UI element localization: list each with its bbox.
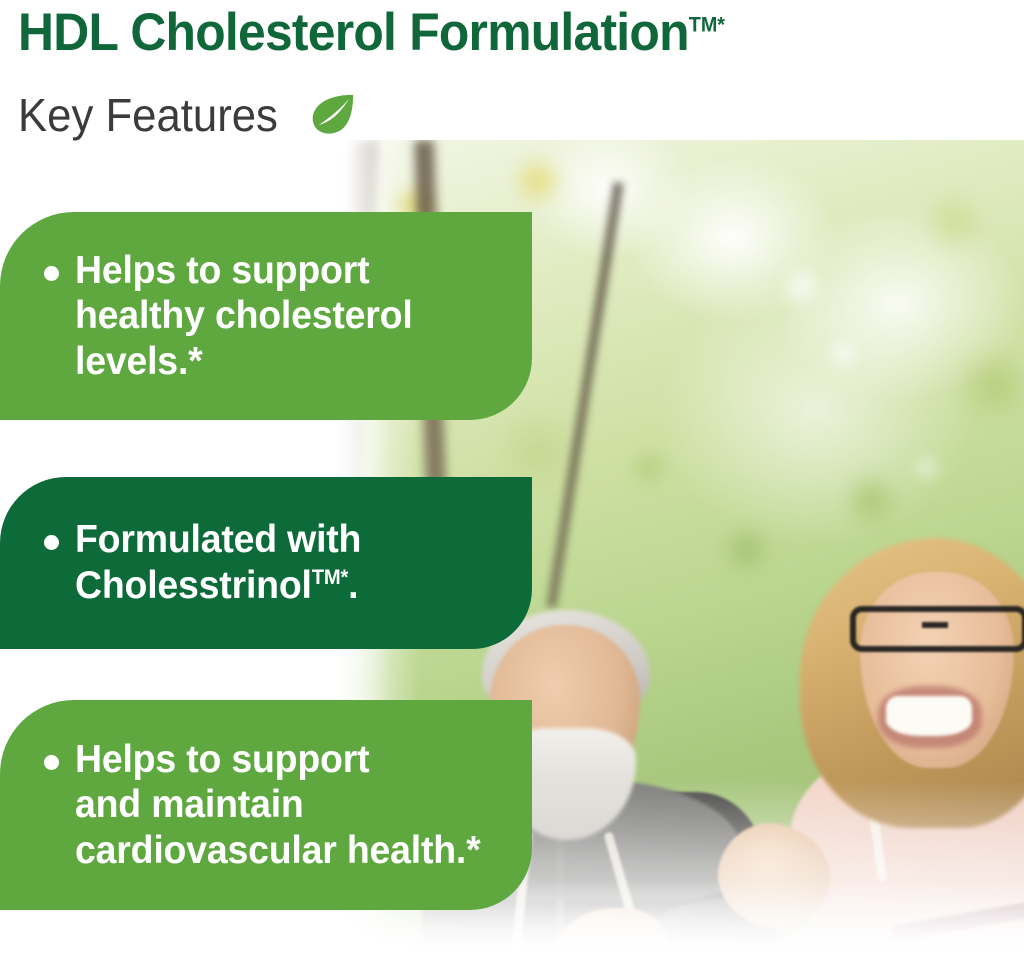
feature-box-1: Helps to support healthy cholesterol lev…: [0, 212, 532, 420]
key-features-heading-row: Key Features: [18, 92, 356, 138]
woman-glasses-bridge: [922, 622, 948, 628]
feature-bullet-row-1: Helps to support healthy cholesterol lev…: [0, 248, 427, 385]
page-title-trademark: TM*: [689, 13, 725, 36]
bullet-icon: [44, 755, 59, 770]
feature-text-2-trademark: TM*: [312, 566, 348, 589]
key-features-label: Key Features: [18, 92, 278, 138]
bullet-icon: [44, 535, 59, 550]
page-title-text: HDL Cholesterol Formulation: [18, 3, 689, 62]
leaf-icon: [310, 92, 356, 138]
page-title: HDL Cholesterol FormulationTM*: [18, 6, 725, 59]
feature-text-1: Helps to support healthy cholesterol lev…: [75, 248, 413, 385]
bullet-icon: [44, 266, 59, 281]
woman-teeth: [886, 696, 972, 736]
feature-bullet-row-2: Formulated with CholesstrinolTM*.: [0, 517, 373, 608]
feature-bullet-row-3: Helps to support and maintain cardiovasc…: [0, 737, 497, 874]
feature-box-3: Helps to support and maintain cardiovasc…: [0, 700, 532, 910]
feature-box-2: Formulated with CholesstrinolTM*.: [0, 477, 532, 649]
woman-glasses: [850, 606, 1024, 652]
feature-text-2: Formulated with CholesstrinolTM*.: [75, 517, 361, 608]
feature-text-2-main: Formulated with Cholesstrinol: [75, 518, 361, 607]
feature-text-2-period: .: [348, 564, 358, 607]
feature-text-3: Helps to support and maintain cardiovasc…: [75, 737, 481, 874]
product-feature-banner: HDL Cholesterol FormulationTM* Key Featu…: [0, 0, 1024, 960]
